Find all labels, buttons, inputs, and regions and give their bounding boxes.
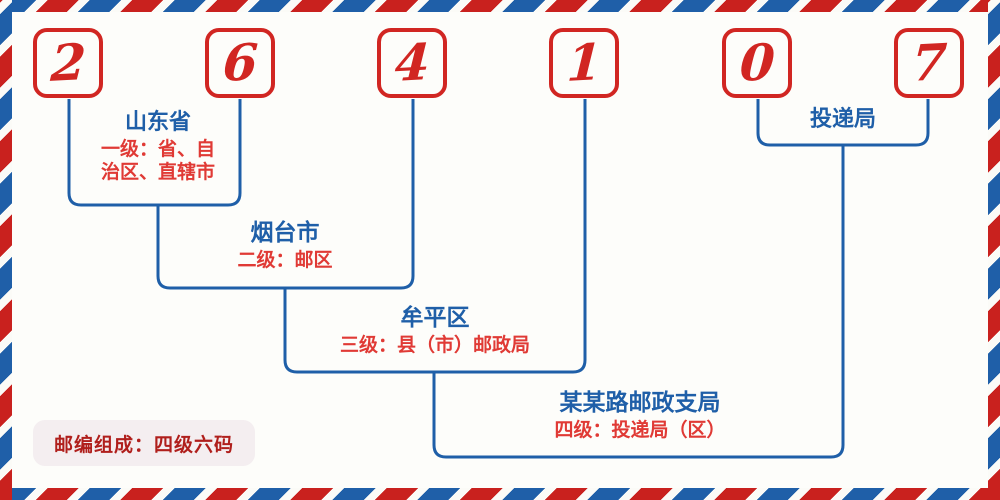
postcode-digit-box-4[interactable]: 1 <box>549 28 619 98</box>
label-title-level-1: 山东省 <box>78 110 238 135</box>
label-group-level-2: 烟台市 二级：邮区 <box>185 220 385 272</box>
postcode-digit-5: 0 <box>738 37 776 89</box>
legend-badge: 邮编组成：四级六码 <box>33 420 255 466</box>
label-title-level-2: 烟台市 <box>185 220 385 246</box>
postcode-digit-box-2[interactable]: 6 <box>205 28 275 98</box>
label-group-level-3: 牟平区 三级：县（市）邮政局 <box>310 305 560 357</box>
label-group-level-4: 某某路邮政支局 四级：投递局（区） <box>470 390 810 442</box>
postcode-digit-box-1[interactable]: 2 <box>33 28 103 98</box>
envelope-container: 2 6 4 1 0 7 山东省 一级：省、自 治区、直辖市 烟台市 二级：邮区 … <box>0 0 1000 500</box>
label-group-level-1: 山东省 一级：省、自 治区、直辖市 <box>78 110 238 184</box>
label-sub-level-1-line-1: 一级：省、自 <box>78 138 238 161</box>
postcode-digit-4: 1 <box>565 37 603 89</box>
postcode-digit-6: 7 <box>910 37 948 89</box>
postcode-digit-2: 6 <box>221 37 259 89</box>
postcode-digit-box-5[interactable]: 0 <box>722 28 792 98</box>
label-sub-level-2: 二级：邮区 <box>185 249 385 272</box>
postcode-digit-1: 2 <box>49 37 87 89</box>
label-group-delivery-office: 投递局 <box>763 107 923 132</box>
label-sub-level-3: 三级：县（市）邮政局 <box>310 334 560 357</box>
label-title-delivery-office: 投递局 <box>763 107 923 132</box>
label-title-level-3: 牟平区 <box>310 305 560 331</box>
label-sub-level-1-line-2: 治区、直辖市 <box>78 161 238 184</box>
legend-badge-text: 邮编组成：四级六码 <box>54 430 234 457</box>
label-title-level-4: 某某路邮政支局 <box>470 390 810 416</box>
postcode-digit-box-3[interactable]: 4 <box>377 28 447 98</box>
postcode-digit-3: 4 <box>393 37 431 89</box>
postcode-digit-box-6[interactable]: 7 <box>894 28 964 98</box>
label-sub-level-4: 四级：投递局（区） <box>470 419 810 442</box>
